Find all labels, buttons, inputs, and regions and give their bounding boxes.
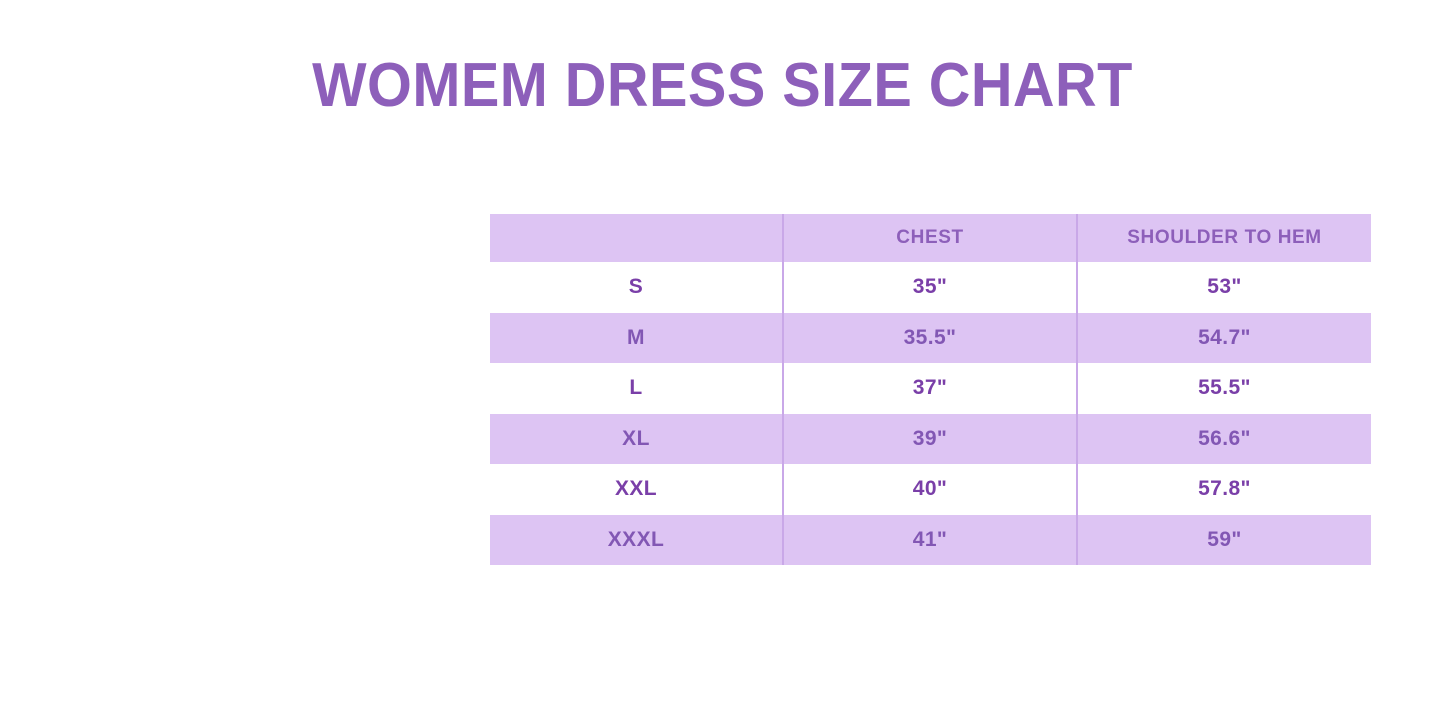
cell-size: S (490, 262, 783, 313)
table-header: CHEST SHOULDER TO HEM (490, 214, 1371, 262)
page-title: WOMEM DRESS SIZE CHART (51, 55, 1395, 117)
column-header-chest: CHEST (783, 214, 1077, 262)
cell-chest: 40" (783, 464, 1077, 515)
table-body: S 35" 53" M 35.5" 54.7" L 37" 55.5" XL 3… (490, 262, 1371, 565)
table-row: L 37" 55.5" (490, 363, 1371, 414)
cell-shoulder-to-hem: 55.5" (1077, 363, 1371, 414)
table-row: M 35.5" 54.7" (490, 313, 1371, 364)
cell-shoulder-to-hem: 56.6" (1077, 414, 1371, 465)
cell-chest: 41" (783, 515, 1077, 566)
cell-size: L (490, 363, 783, 414)
cell-shoulder-to-hem: 59" (1077, 515, 1371, 566)
cell-size: XXXL (490, 515, 783, 566)
size-chart-page: WOMEM DRESS SIZE CHART CHEST SHOULDER TO… (0, 0, 1445, 723)
table-row: XXL 40" 57.8" (490, 464, 1371, 515)
cell-chest: 35" (783, 262, 1077, 313)
cell-size: XXL (490, 464, 783, 515)
table-row: XXXL 41" 59" (490, 515, 1371, 566)
cell-shoulder-to-hem: 53" (1077, 262, 1371, 313)
cell-size: XL (490, 414, 783, 465)
cell-chest: 37" (783, 363, 1077, 414)
size-chart-table: CHEST SHOULDER TO HEM S 35" 53" M 35.5" … (490, 214, 1371, 565)
column-header-shoulder-to-hem: SHOULDER TO HEM (1077, 214, 1371, 262)
cell-shoulder-to-hem: 57.8" (1077, 464, 1371, 515)
cell-size: M (490, 313, 783, 364)
table-row: XL 39" 56.6" (490, 414, 1371, 465)
table-header-row: CHEST SHOULDER TO HEM (490, 214, 1371, 262)
cell-chest: 35.5" (783, 313, 1077, 364)
column-header-size (490, 214, 783, 262)
cell-shoulder-to-hem: 54.7" (1077, 313, 1371, 364)
table-row: S 35" 53" (490, 262, 1371, 313)
cell-chest: 39" (783, 414, 1077, 465)
